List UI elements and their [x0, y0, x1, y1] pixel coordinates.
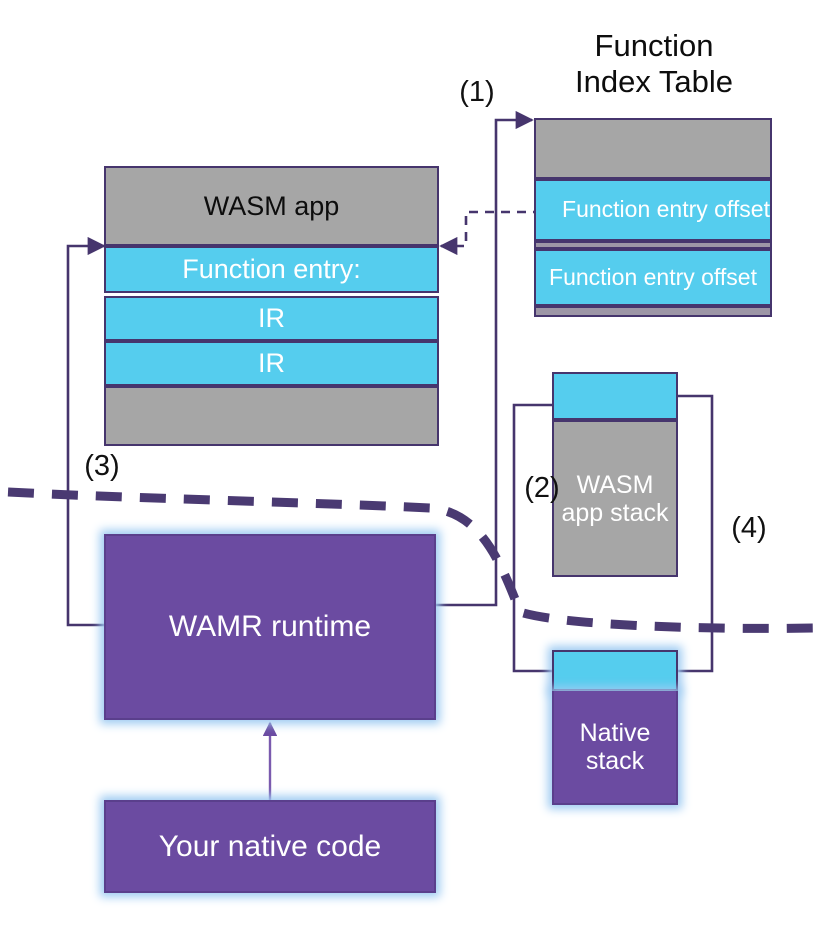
step-label-2: (2) [512, 472, 572, 505]
your-native-code-label: Your native code [159, 830, 381, 864]
function-index-table-title-line2: Index Table [534, 64, 774, 100]
wasm-app-stack-label-line1: WASM [577, 471, 654, 499]
step-label-1: (1) [447, 76, 507, 109]
index-table-row-entry-offset-2: Function entry offset [534, 249, 772, 306]
wasm-app-row-header: WASM app [104, 166, 439, 246]
index-table-row-gray-top [534, 118, 772, 179]
wasm-app-row-ir-2: IR [104, 341, 439, 386]
step-label-3: (3) [72, 450, 132, 483]
wasm-app-row-gray-bottom [104, 386, 439, 446]
connector-3-runtime-to-wasm-app [68, 246, 106, 625]
index-table-row-entry-offset-2-label: Function entry offset [549, 265, 757, 291]
diagram-canvas: Function Index Table Function entry offs… [0, 0, 819, 925]
wasm-app-ir-2-label: IR [258, 348, 285, 378]
step-label-4: (4) [719, 512, 779, 545]
step-label-1-text: (1) [459, 76, 494, 108]
index-table-row-entry-offset-1: Function entry offset [534, 179, 772, 241]
your-native-code-box: Your native code [104, 800, 436, 893]
native-stack-label-line2: stack [586, 747, 644, 775]
index-table-row-separator-1 [534, 241, 772, 249]
step-label-3-text: (3) [84, 450, 119, 482]
function-index-table-title-line1: Function [534, 28, 774, 64]
native-stack-label-line1: Native [580, 719, 651, 747]
wasm-app-function-entry-label: Function entry: [182, 254, 361, 284]
native-stack-top-band [552, 650, 678, 691]
wasm-app-stack-top-band [552, 372, 678, 420]
step-label-4-text: (4) [731, 512, 766, 544]
connector-1-runtime-to-index-table [423, 120, 532, 610]
index-table-row-entry-offset-1-label: Function entry offset [562, 197, 770, 223]
native-stack-body: Native stack [552, 691, 678, 805]
wasm-app-stack-label-line2: app stack [561, 499, 668, 527]
wasm-app-ir-1-label: IR [258, 303, 285, 333]
wasm-app-row-ir-1: IR [104, 296, 439, 341]
index-table-row-separator-2 [534, 306, 772, 317]
wasm-app-title-label: WASM app [204, 191, 340, 221]
wamr-runtime-box: WAMR runtime [104, 534, 436, 720]
function-index-table-title: Function Index Table [534, 28, 774, 99]
step-label-2-text: (2) [524, 472, 559, 504]
wamr-runtime-label: WAMR runtime [169, 610, 371, 644]
wasm-app-row-function-entry: Function entry: [104, 246, 439, 293]
